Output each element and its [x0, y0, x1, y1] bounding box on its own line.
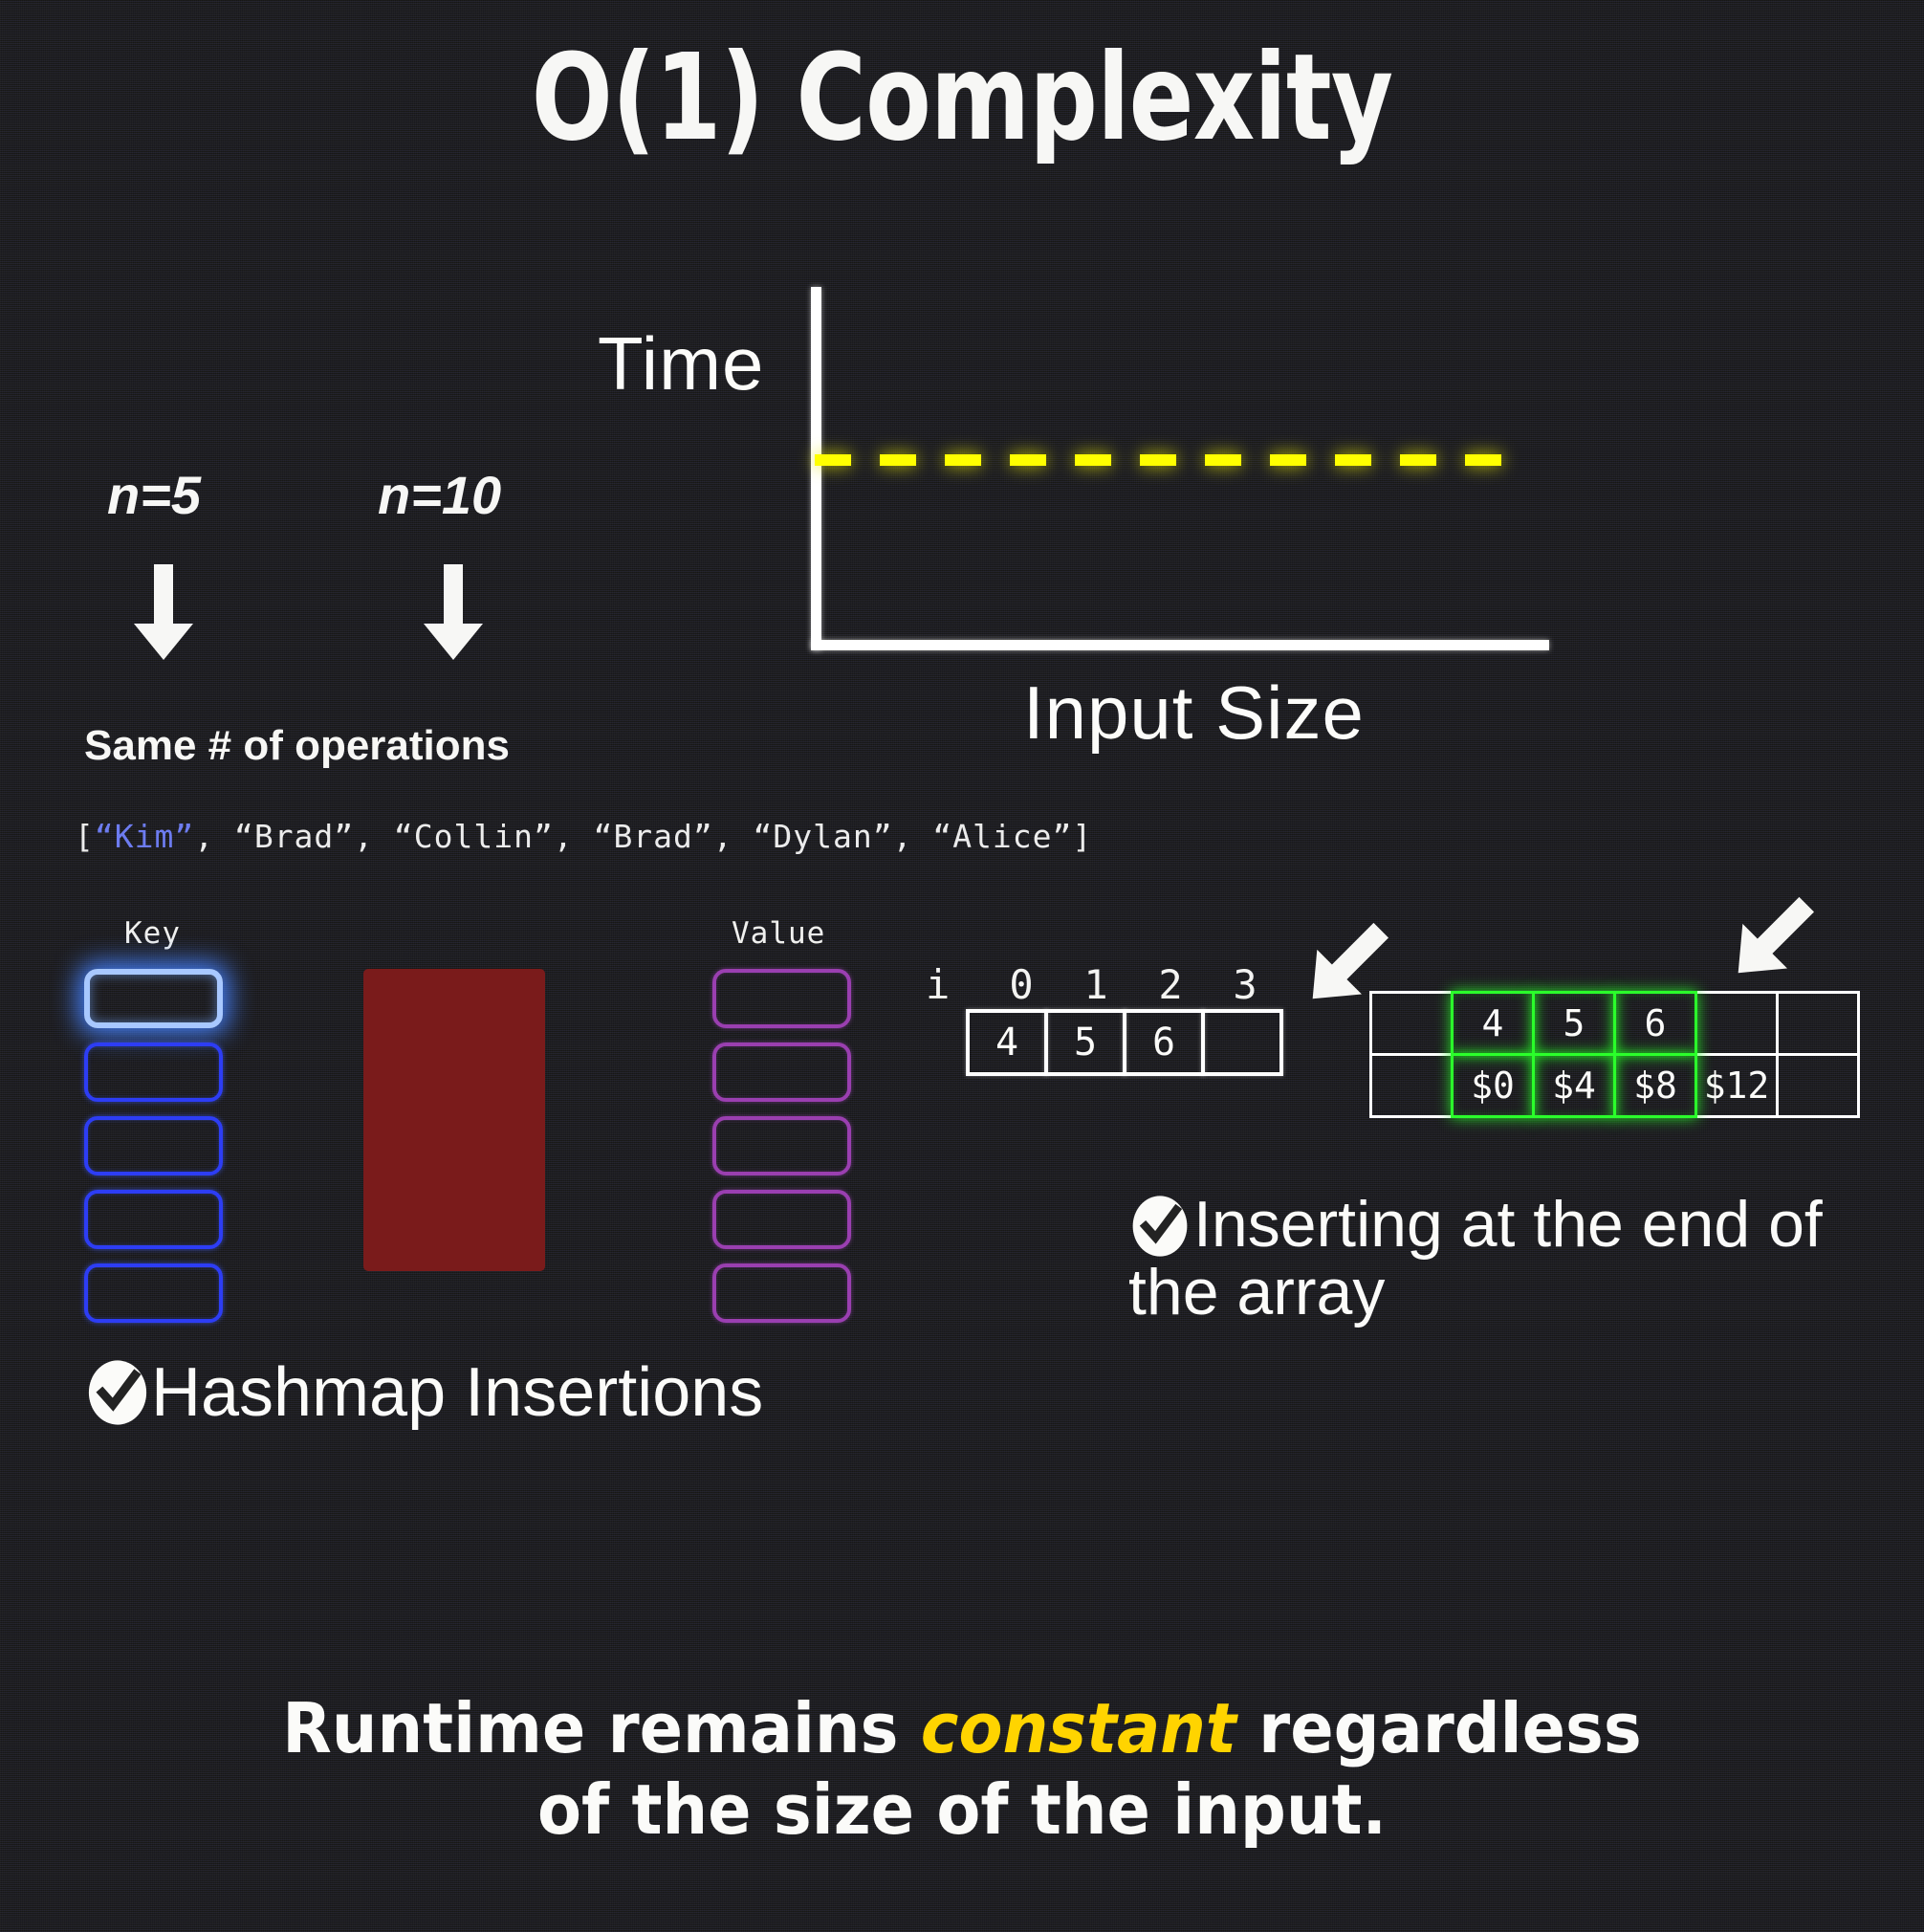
index-label-0: 0: [985, 961, 1060, 1008]
memory-cell: [1694, 991, 1779, 1056]
memory-grid-row: 4 5 6: [1369, 991, 1857, 1053]
chart-x-axis-label: Input Size: [1023, 670, 1365, 757]
memory-cell: [1369, 1053, 1454, 1118]
value-column-header: Value: [732, 916, 825, 951]
array-index-labels: i0123: [926, 961, 1283, 1008]
hashmap-key-box[interactable]: [84, 1263, 223, 1323]
array-cell: 5: [1044, 1009, 1126, 1076]
index-label-3: 3: [1209, 961, 1283, 1008]
hash-function-block: [363, 969, 545, 1271]
index-head-label: i: [926, 961, 985, 1008]
hashmap-caption-text: Hashmap Insertions: [151, 1353, 763, 1432]
chart-constant-series-line: [815, 454, 1522, 466]
down-arrow-icon: [126, 564, 201, 660]
memory-cell: 5: [1532, 991, 1616, 1056]
array-insert-caption-text: Inserting at the end of the array: [1128, 1188, 1823, 1328]
memory-cell: $0: [1451, 1053, 1535, 1118]
hashmap-value-box[interactable]: [712, 969, 851, 1028]
bottom-statement: Runtime remains constant regardless of t…: [67, 1688, 1856, 1851]
code-highlighted-item: “Kim”: [95, 818, 194, 855]
hashmap-value-box[interactable]: [712, 1190, 851, 1249]
memory-cell: [1776, 991, 1860, 1056]
memory-cell: [1369, 991, 1454, 1056]
memory-cell: $12: [1694, 1053, 1779, 1118]
bottom-statement-part1: Runtime remains: [282, 1688, 921, 1768]
hashmap-key-box[interactable]: [84, 969, 223, 1028]
array-cell: 4: [966, 1009, 1048, 1076]
chart-y-axis: [811, 287, 821, 650]
hashmap-value-box[interactable]: [712, 1263, 851, 1323]
array-literal-code: [“Kim”, “Brad”, “Collin”, “Brad”, “Dylan…: [75, 818, 1092, 855]
hashmap-value-box[interactable]: [712, 1043, 851, 1102]
memory-grid: 4 5 6 $0 $4 $8 $12: [1369, 991, 1857, 1115]
memory-cell: 4: [1451, 991, 1535, 1056]
code-rest: , “Brad”, “Collin”, “Brad”, “Dylan”, “Al…: [194, 818, 1092, 855]
same-operations-caption: Same # of operations: [84, 722, 510, 770]
complexity-chart: Time Input Size: [746, 277, 1559, 660]
array-cell: [1201, 1009, 1283, 1076]
index-array-table: 4 5 6: [966, 1009, 1279, 1076]
memory-cell: [1776, 1053, 1860, 1118]
code-open-bracket: [: [75, 818, 95, 855]
down-arrow-icon: [416, 564, 491, 660]
hashmap-key-box[interactable]: [84, 1190, 223, 1249]
index-label-2: 2: [1134, 961, 1209, 1008]
hashmap-value-box[interactable]: [712, 1116, 851, 1175]
memory-cell: $8: [1613, 1053, 1697, 1118]
array-cell: 6: [1123, 1009, 1205, 1076]
hashmap-caption: Hashmap Insertions: [84, 1353, 763, 1432]
chart-x-axis: [811, 640, 1549, 650]
n-label-5: n=5: [107, 464, 201, 526]
array-insert-caption: Inserting at the end of the array: [1128, 1191, 1913, 1328]
page-title: O(1) Complexity: [192, 29, 1732, 167]
slide-canvas: O(1) Complexity n=5 n=10 Same # of opera…: [0, 0, 1924, 1932]
bottom-statement-part2: regardless: [1236, 1688, 1642, 1768]
memory-cell: 6: [1613, 991, 1697, 1056]
n-label-10: n=10: [378, 464, 501, 526]
arrow-down-left-icon: [1721, 888, 1826, 993]
check-circle-icon: [1128, 1195, 1192, 1258]
hashmap-key-box[interactable]: [84, 1116, 223, 1175]
memory-cell: $4: [1532, 1053, 1616, 1118]
hashmap-key-box[interactable]: [84, 1043, 223, 1102]
bottom-statement-line2: of the size of the input.: [537, 1769, 1387, 1850]
index-label-1: 1: [1060, 961, 1134, 1008]
check-circle-icon: [84, 1359, 151, 1426]
key-column-header: Key: [124, 916, 181, 951]
memory-grid-row: $0 $4 $8 $12: [1369, 1053, 1857, 1115]
bottom-statement-emphasis: constant: [921, 1688, 1236, 1768]
chart-y-axis-label: Time: [598, 320, 764, 407]
